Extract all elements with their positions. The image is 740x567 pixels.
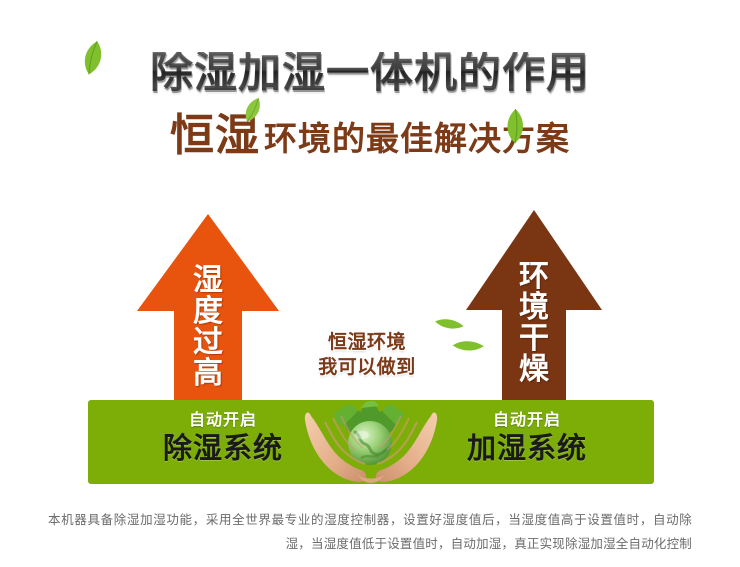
center-caption: 恒湿环境 我可以做到 — [292, 330, 442, 380]
arrow-right-char-4: 燥 — [502, 355, 566, 386]
band-left-dehumidify: 自动开启 除湿系统 — [118, 412, 328, 465]
arrow-left-label: 湿 度 过 高 — [174, 266, 242, 390]
arrow-right-char-2: 境 — [502, 293, 566, 324]
arrow-right-char-3: 干 — [502, 324, 566, 355]
arrow-left-char-4: 高 — [174, 359, 242, 390]
headline-block: 除湿加湿一体机的作用 恒湿环境的最佳解决方案 — [0, 52, 740, 192]
arrow-right-environment-dry: 环 境 干 燥 — [466, 210, 602, 406]
center-caption-line1: 恒湿环境 — [292, 330, 442, 355]
arrow-right-label: 环 境 干 燥 — [502, 262, 566, 386]
arrow-right-char-1: 环 — [502, 262, 566, 293]
center-caption-line2: 我可以做到 — [292, 355, 442, 380]
arrow-left-humidity-high: 湿 度 过 高 — [137, 214, 279, 406]
band-right-humidify: 自动开启 加湿系统 — [422, 412, 632, 465]
footer-description: 本机器具备除湿加湿功能，采用全世界最专业的湿度控制器，设置好湿度值后，当湿度值高… — [48, 508, 692, 557]
promo-banner: 除湿加湿一体机的作用 恒湿环境的最佳解决方案 — [0, 0, 740, 567]
arrow-left-char-1: 湿 — [174, 266, 242, 297]
band-right-main: 加湿系统 — [422, 434, 632, 466]
arrow-left-char-2: 度 — [174, 297, 242, 328]
headline-secondary: 恒湿环境的最佳解决方案 — [0, 114, 740, 158]
hands-holding-globe-icon — [303, 396, 439, 490]
band-left-sub: 自动开启 — [118, 412, 328, 430]
arrow-left-char-3: 过 — [174, 328, 242, 359]
band-right-sub: 自动开启 — [422, 412, 632, 430]
band-left-main: 除湿系统 — [118, 434, 328, 466]
